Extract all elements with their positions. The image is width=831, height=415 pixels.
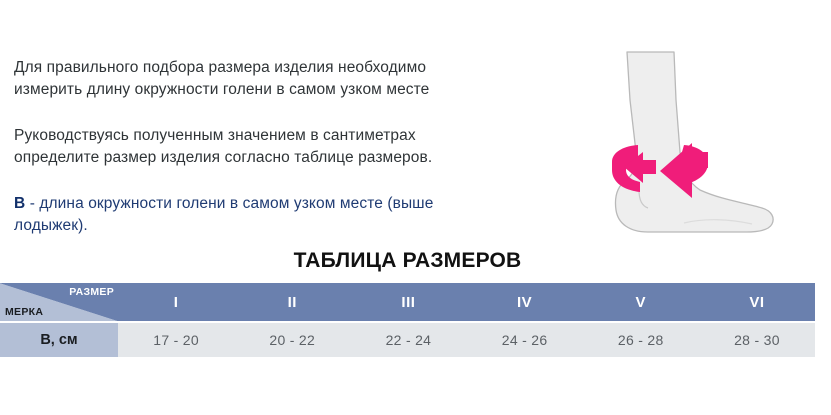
- size-guide-page: Для правильного подбора размера изделия …: [0, 0, 831, 415]
- column-header-5: V: [583, 283, 699, 321]
- size-table: РАЗМЕР МЕРКА I II III IV V VI B, см 17 -…: [0, 283, 815, 357]
- column-header-6: VI: [699, 283, 815, 321]
- column-header-3: III: [350, 283, 466, 321]
- leg-illustration: B: [596, 40, 796, 255]
- cell-size-4: 24 - 26: [467, 323, 583, 357]
- column-header-2: II: [234, 283, 350, 321]
- cell-size-3: 22 - 24: [350, 323, 466, 357]
- legend-symbol: В: [14, 195, 25, 212]
- cell-size-1: 17 - 20: [118, 323, 234, 357]
- size-table-title: ТАБЛИЦА РАЗМЕРОВ: [0, 249, 815, 273]
- instruction-paragraph-1: Для правильного подбора размера изделия …: [14, 57, 494, 101]
- cell-size-5: 26 - 28: [583, 323, 699, 357]
- cell-size-2: 20 - 22: [234, 323, 350, 357]
- table-row: B, см 17 - 20 20 - 22 22 - 24 24 - 26 26…: [0, 323, 815, 357]
- corner-size-label: РАЗМЕР: [69, 286, 114, 298]
- column-header-1: I: [118, 283, 234, 321]
- table-corner-cell: РАЗМЕР МЕРКА: [0, 283, 118, 321]
- legend-description: - длина окружности голени в самом узком …: [14, 195, 433, 234]
- legend-paragraph: В - длина окружности голени в самом узко…: [14, 193, 494, 237]
- table-header-row: РАЗМЕР МЕРКА I II III IV V VI: [0, 283, 815, 321]
- instructions-block: Для правильного подбора размера изделия …: [14, 57, 494, 237]
- corner-measure-label: МЕРКА: [5, 306, 43, 318]
- cell-size-6: 28 - 30: [699, 323, 815, 357]
- leg-shape: [615, 52, 773, 232]
- column-header-4: IV: [467, 283, 583, 321]
- row-label-b-cm: B, см: [0, 323, 118, 357]
- instruction-paragraph-2: Руководствуясь полученным значением в са…: [14, 125, 494, 169]
